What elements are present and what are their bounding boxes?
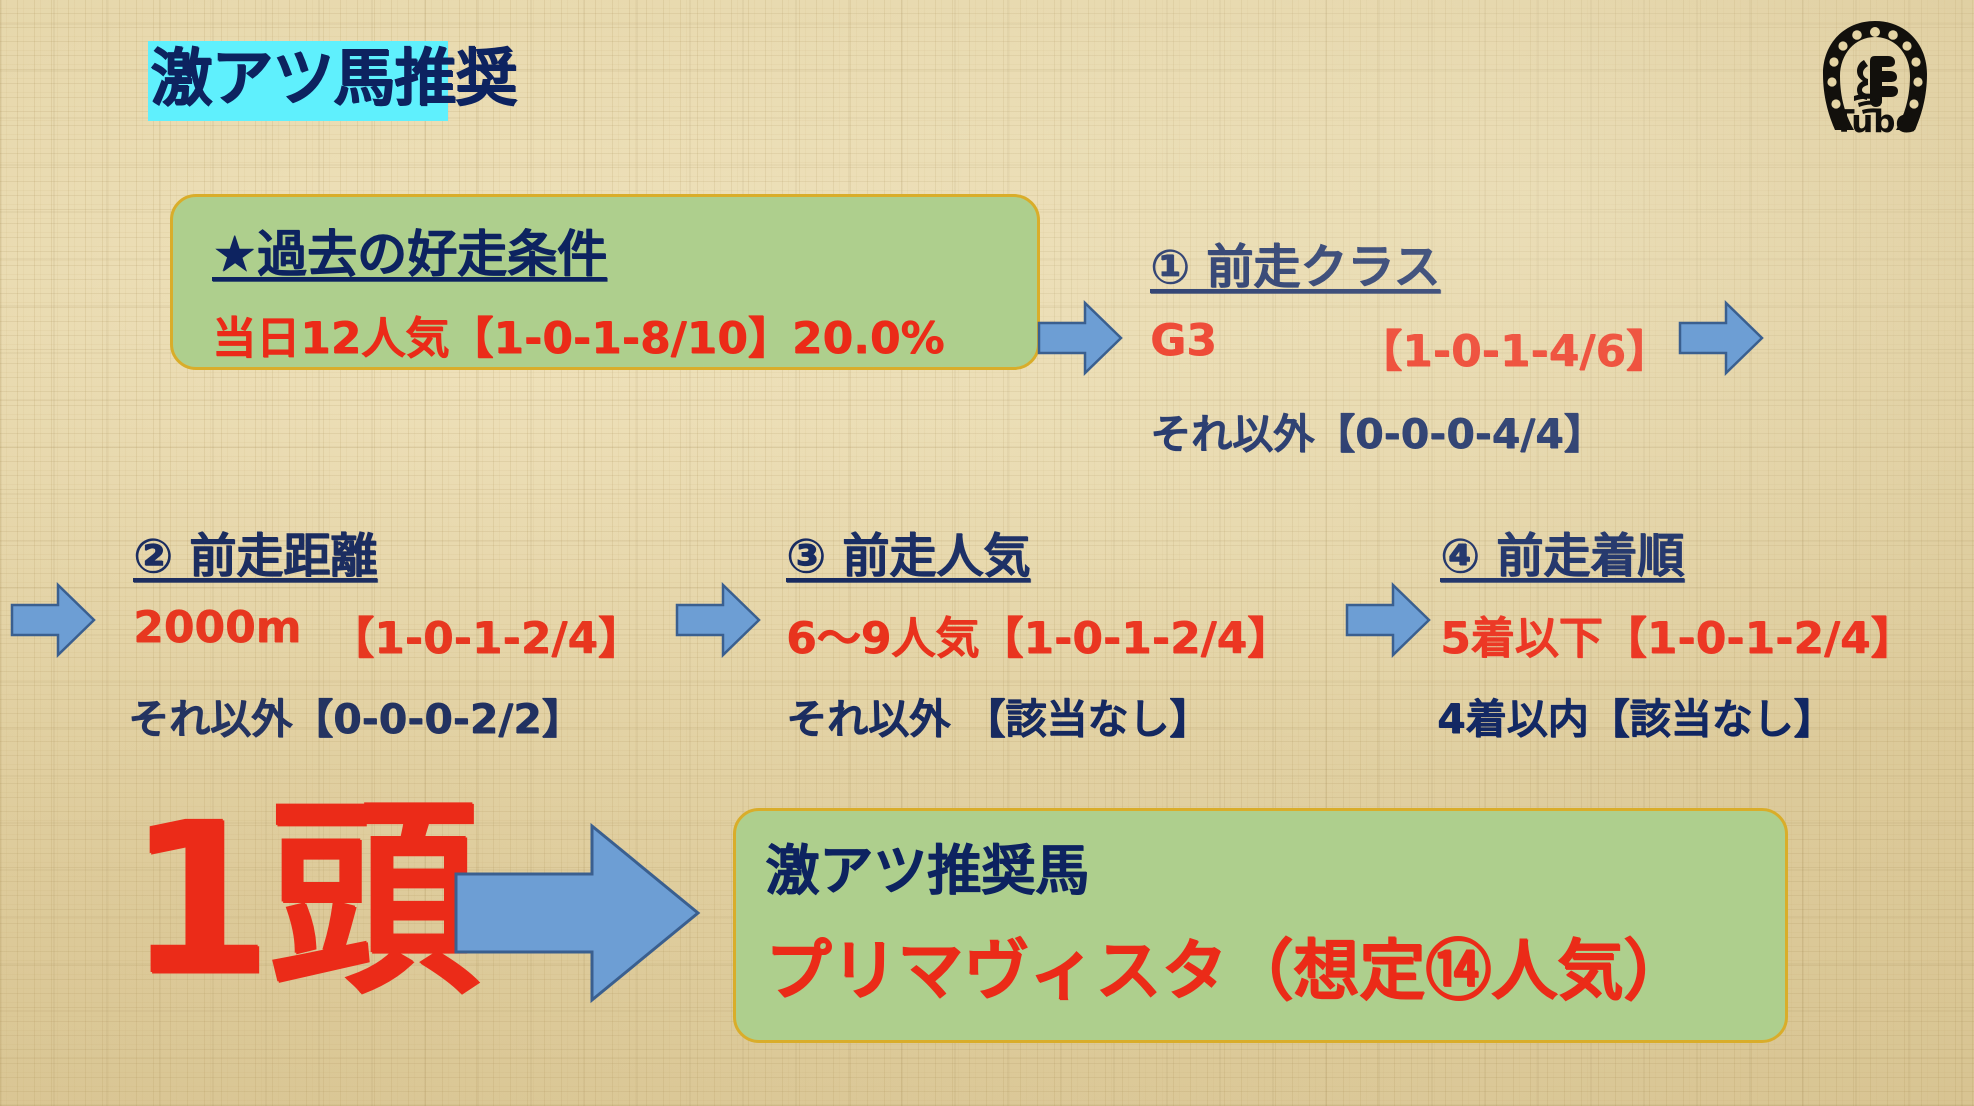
logo-text: Tube bbox=[1833, 104, 1916, 138]
recommended-horse-label: 激アツ推奨馬 bbox=[765, 826, 1089, 905]
step-3-title: ③ 前走人気 bbox=[786, 517, 1030, 586]
step-3-hit-label: 6〜9人気【1-0-1-2/4】 bbox=[786, 602, 1291, 666]
slide-canvas: 激アツ馬推奨 bbox=[0, 0, 1974, 1106]
step-1-miss: それ以外【0-0-0-4/4】 bbox=[1150, 400, 1605, 460]
arrow-to-result bbox=[452, 818, 702, 1008]
step-2-hit-value: 【1-0-1-2/4】 bbox=[330, 602, 642, 666]
arrow-into-step2 bbox=[10, 582, 96, 658]
step-3-miss: それ以外 【該当なし】 bbox=[786, 685, 1210, 745]
past-conditions-record: 当日12人気【1-0-1-8/10】20.0% bbox=[212, 302, 944, 366]
step-1-hit-label: G3 bbox=[1150, 315, 1217, 366]
step-1-title: ① 前走クラス bbox=[1150, 228, 1440, 297]
horseshoe-tube-logo: Tube bbox=[1810, 16, 1940, 138]
step-2-miss: それ以外【0-0-0-2/2】 bbox=[128, 685, 583, 745]
step-2-title: ② 前走距離 bbox=[133, 517, 377, 586]
step-4-hit-label: 5着以下【1-0-1-2/4】 bbox=[1440, 602, 1915, 666]
arrow-conditions-to-step1 bbox=[1037, 300, 1123, 376]
step-1-hit-value: 【1-0-1-4/6】 bbox=[1358, 315, 1670, 379]
arrow-step1-to-step2 bbox=[1678, 300, 1764, 376]
past-conditions-title: ★過去の好走条件 bbox=[212, 214, 607, 286]
arrow-step2-to-step3 bbox=[675, 582, 761, 658]
page-title: 激アツ馬推奨 bbox=[150, 37, 516, 119]
result-count: 1頭 bbox=[126, 795, 474, 1005]
recommended-horse-name: プリマヴィスタ（想定⑭人気） bbox=[765, 917, 1689, 1013]
step-4-title: ④ 前走着順 bbox=[1440, 517, 1684, 586]
step-2-hit-label: 2000m bbox=[133, 602, 301, 653]
step-4-miss: 4着以内【該当なし】 bbox=[1437, 685, 1835, 745]
arrow-step3-to-step4 bbox=[1345, 582, 1431, 658]
